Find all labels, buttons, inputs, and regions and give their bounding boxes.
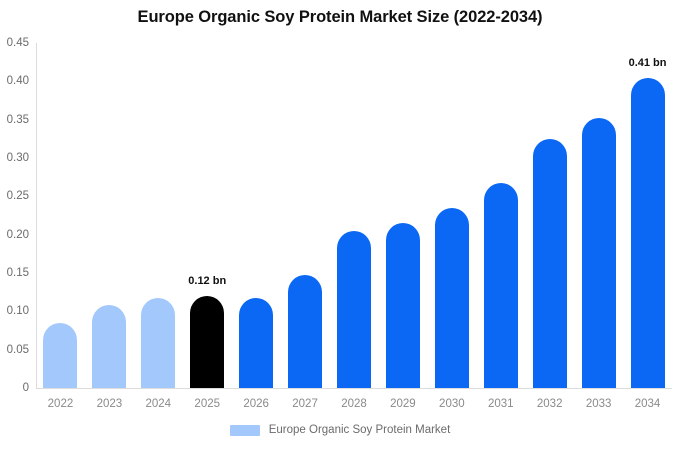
x-axis-tick-label-2031: 2031 — [488, 398, 514, 410]
chart-title: Europe Organic Soy Protein Market Size (… — [0, 8, 680, 27]
y-axis-tick-label: 0 — [23, 382, 29, 394]
y-axis-tick-label: 0.15 — [7, 267, 29, 279]
x-axis-line — [36, 388, 672, 389]
bar-2024[interactable] — [141, 298, 175, 388]
bar-group-2034[interactable]: 0.41 bn2034 — [631, 43, 665, 388]
x-axis-tick-label-2030: 2030 — [439, 398, 465, 410]
bar-group-2031[interactable]: 2031 — [484, 43, 518, 388]
bar-2034[interactable] — [631, 78, 665, 389]
bar-group-2027[interactable]: 2027 — [288, 43, 322, 388]
bar-2027[interactable] — [288, 275, 322, 388]
bar-value-label-2025: 0.12 bn — [188, 275, 226, 287]
y-axis-tick-label: 0.10 — [7, 305, 29, 317]
bar-2032[interactable] — [533, 139, 567, 388]
bar-2025[interactable] — [190, 296, 224, 388]
chart-legend: Europe Organic Soy Protein Market — [0, 424, 680, 436]
x-axis-tick-label-2025: 2025 — [194, 398, 220, 410]
legend-swatch-europe-organic-soy-protein-market — [230, 425, 260, 436]
bar-2029[interactable] — [386, 223, 420, 388]
bar-group-2033[interactable]: 2033 — [582, 43, 616, 388]
x-axis-tick-label-2022: 2022 — [48, 398, 74, 410]
bar-group-2032[interactable]: 2032 — [533, 43, 567, 388]
bar-2031[interactable] — [484, 183, 518, 388]
y-axis-tick-label: 0.05 — [7, 344, 29, 356]
x-axis-tick-label-2033: 2033 — [586, 398, 612, 410]
bar-group-2026[interactable]: 2026 — [239, 43, 273, 388]
bar-2023[interactable] — [92, 305, 126, 388]
y-axis-tick-label: 0.45 — [7, 37, 29, 49]
x-axis-tick-label-2032: 2032 — [537, 398, 563, 410]
bar-2026[interactable] — [239, 298, 273, 388]
bar-value-label-2034: 0.41 bn — [629, 57, 667, 69]
x-axis-tick-label-2034: 2034 — [635, 398, 661, 410]
x-axis-tick-label-2027: 2027 — [292, 398, 318, 410]
x-axis-tick-label-2029: 2029 — [390, 398, 416, 410]
x-axis-tick-label-2026: 2026 — [243, 398, 269, 410]
y-axis-tick-label: 0.35 — [7, 114, 29, 126]
bar-2028[interactable] — [337, 231, 371, 388]
x-axis-tick-label-2024: 2024 — [146, 398, 172, 410]
bar-group-2022[interactable]: 2022 — [43, 43, 77, 388]
bar-group-2023[interactable]: 2023 — [92, 43, 126, 388]
y-axis-tick-label: 0.25 — [7, 190, 29, 202]
bar-group-2030[interactable]: 2030 — [435, 43, 469, 388]
bar-2030[interactable] — [435, 208, 469, 388]
bar-series: 2022202320240.12 bn202520262027202820292… — [36, 43, 672, 388]
plot-area: 0.450.400.350.300.250.200.150.100.050 20… — [36, 43, 672, 388]
bar-group-2029[interactable]: 2029 — [386, 43, 420, 388]
x-axis-tick-label-2028: 2028 — [341, 398, 367, 410]
bar-2033[interactable] — [582, 118, 616, 388]
chart-container: Europe Organic Soy Protein Market Size (… — [0, 0, 680, 450]
bar-group-2028[interactable]: 2028 — [337, 43, 371, 388]
y-axis-tick-label: 0.30 — [7, 152, 29, 164]
legend-label-europe-organic-soy-protein-market: Europe Organic Soy Protein Market — [269, 424, 451, 436]
x-axis-tick-label-2023: 2023 — [97, 398, 123, 410]
y-axis-tick-label: 0.40 — [7, 75, 29, 87]
bar-group-2024[interactable]: 2024 — [141, 43, 175, 388]
y-axis-tick-label: 0.20 — [7, 229, 29, 241]
bar-2022[interactable] — [43, 323, 77, 388]
bar-group-2025[interactable]: 0.12 bn2025 — [190, 43, 224, 388]
